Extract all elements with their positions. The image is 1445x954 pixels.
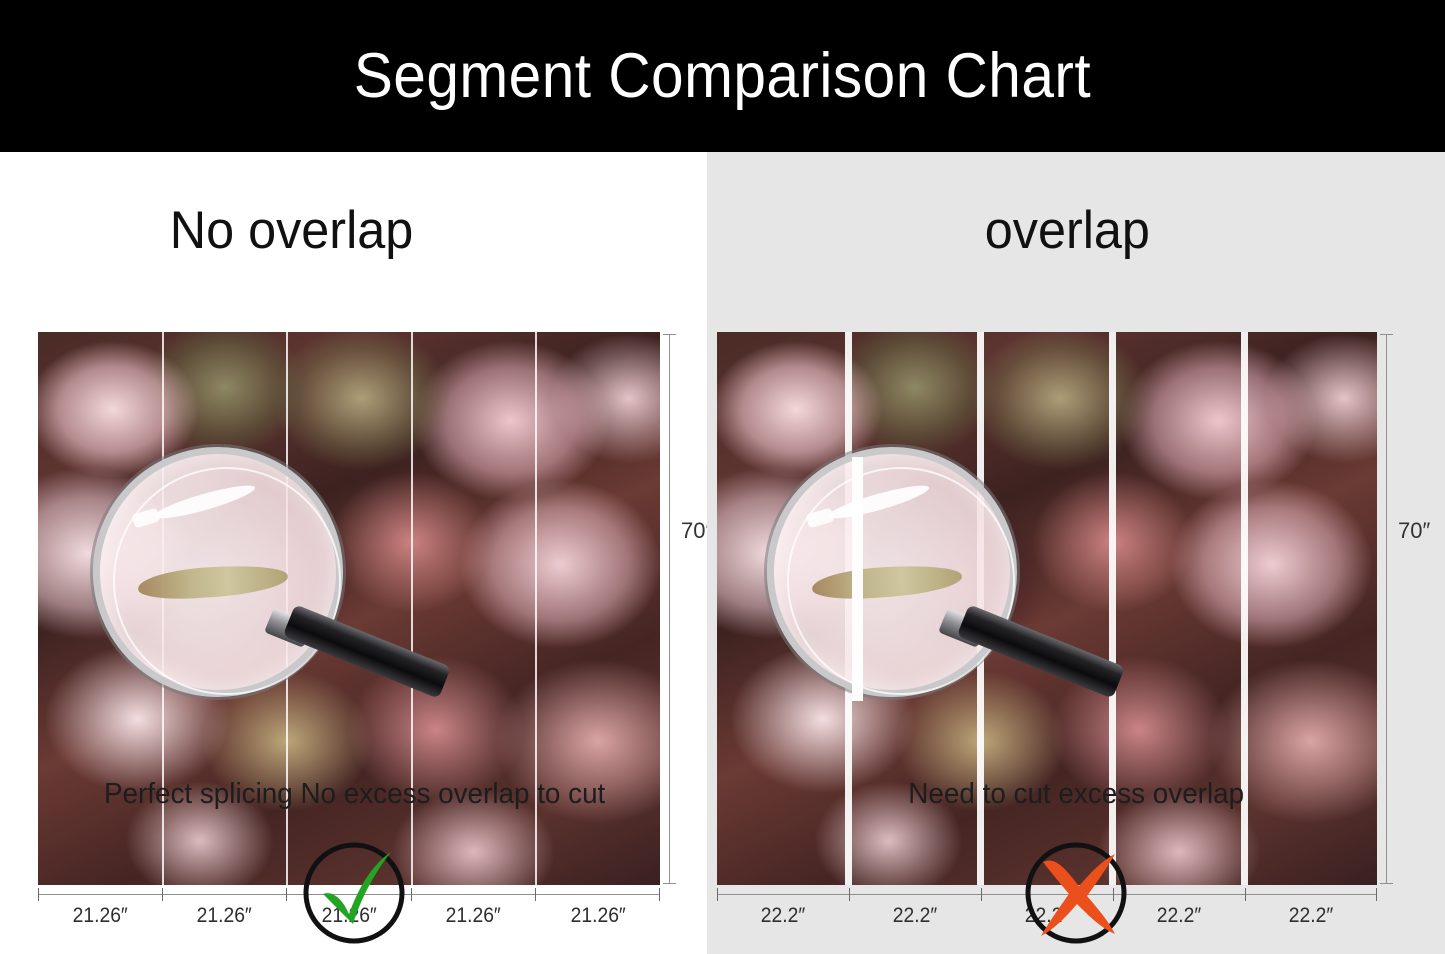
- caption-no-overlap: Perfect splicing No excess overlap to cu…: [15, 778, 747, 811]
- height-label-overlap: 70″: [1398, 518, 1430, 544]
- height-dimension-cap-top: [1380, 334, 1393, 335]
- panel-heading-overlap: overlap: [732, 200, 1445, 261]
- caption-overlap: Need to cut excess overlap: [722, 778, 1440, 811]
- comparison-panels: No overlap: [0, 152, 1445, 954]
- verdict-no-overlap: [0, 838, 767, 948]
- verdict-overlap: [707, 838, 1445, 948]
- height-dimension-cap-top: [663, 334, 676, 335]
- title-banner: Segment Comparison Chart: [0, 0, 1445, 152]
- segment-comparison-chart: Segment Comparison Chart No overlap: [0, 0, 1445, 954]
- cross-circle-icon: [1021, 838, 1131, 948]
- panel-overlap: overlap: [707, 152, 1445, 954]
- check-circle-icon: [299, 838, 409, 948]
- panel-no-overlap: No overlap: [0, 152, 707, 954]
- page-title: Segment Comparison Chart: [354, 40, 1091, 112]
